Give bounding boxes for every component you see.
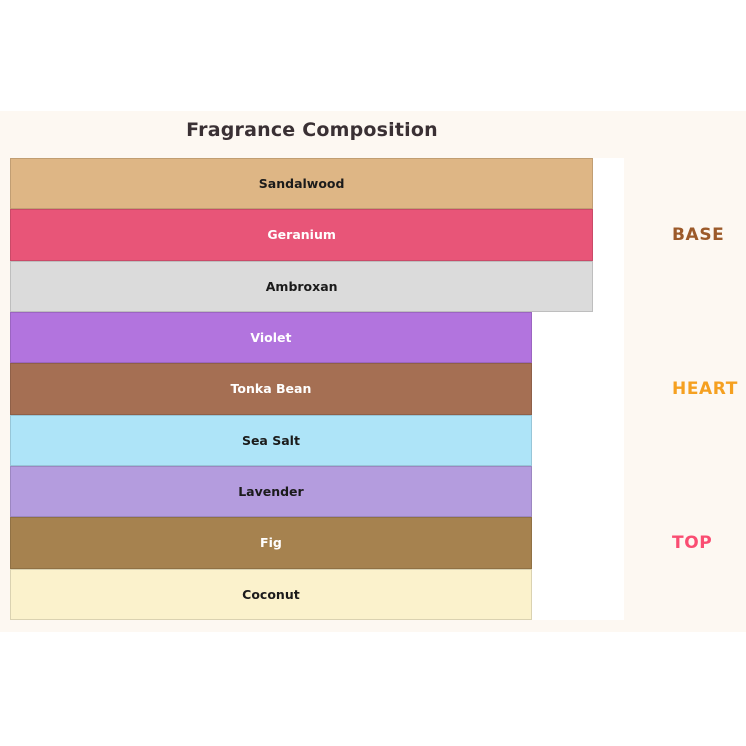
- bar-geranium[interactable]: [10, 209, 593, 260]
- bar-row: Ambroxan: [10, 261, 624, 312]
- page-title: Fragrance Composition: [0, 119, 624, 141]
- bar-row: Geranium: [10, 209, 624, 260]
- bar-row: Sea Salt: [10, 415, 624, 466]
- bar-sea-salt[interactable]: [10, 415, 532, 466]
- bar-row: Fig: [10, 517, 624, 568]
- family-label-top: TOP: [672, 533, 712, 553]
- chart-figure: Fragrance Composition SandalwoodGeranium…: [0, 111, 746, 632]
- bar-fig[interactable]: [10, 517, 532, 568]
- bar-series: SandalwoodGeraniumAmbroxanVioletTonka Be…: [10, 158, 624, 620]
- bar-violet[interactable]: [10, 312, 532, 363]
- bar-row: Tonka Bean: [10, 363, 624, 414]
- bar-tonka-bean[interactable]: [10, 363, 532, 414]
- family-label-base: BASE: [672, 225, 724, 245]
- plot-area: SandalwoodGeraniumAmbroxanVioletTonka Be…: [10, 158, 624, 620]
- bar-coconut[interactable]: [10, 569, 532, 620]
- bar-row: Coconut: [10, 569, 624, 620]
- bar-row: Lavender: [10, 466, 624, 517]
- bar-ambroxan[interactable]: [10, 261, 593, 312]
- bar-row: Violet: [10, 312, 624, 363]
- bar-sandalwood[interactable]: [10, 158, 593, 209]
- bar-lavender[interactable]: [10, 466, 532, 517]
- family-label-heart: HEART: [672, 379, 738, 399]
- bar-row: Sandalwood: [10, 158, 624, 209]
